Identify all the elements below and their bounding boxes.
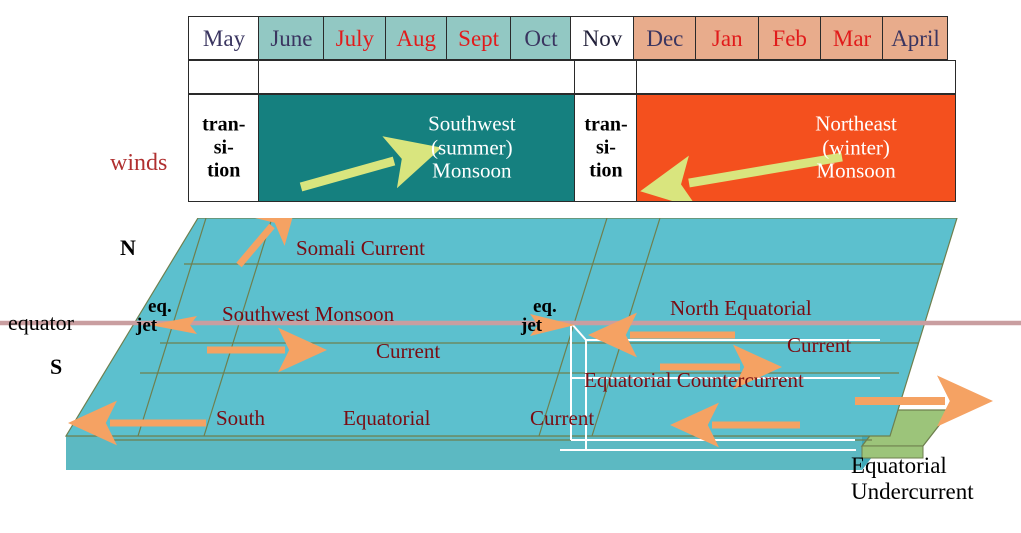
north-hemisphere-label: N (120, 235, 136, 261)
slab-front-face (66, 436, 862, 470)
north-equatorial-current-label: North Equatorial (670, 296, 812, 321)
month-cell-aug[interactable]: Aug (385, 16, 447, 60)
month-cell-feb[interactable]: Feb (758, 16, 822, 60)
winds-cell-transition-left[interactable]: tran-si-tion (188, 94, 260, 202)
southwest-monsoon-current-label: Southwest Monsoon (222, 302, 394, 327)
south-equatorial-label-south: South (216, 406, 265, 431)
winds-text-line: Southwest (369, 113, 575, 137)
winds-text-line: (winter) (757, 136, 955, 160)
month-cell-may[interactable]: May (188, 16, 260, 60)
south-hemisphere-label: S (50, 354, 62, 380)
winds-text-line: Northeast (757, 113, 955, 137)
month-cell-mar[interactable]: Mar (820, 16, 884, 60)
month-cell-oct[interactable]: Oct (510, 16, 572, 60)
winds-text-line: Monsoon (369, 160, 575, 184)
southwest-monsoon-current-label2: Current (376, 339, 440, 364)
eq-jet-right-line1: eq. (533, 297, 557, 316)
winds-cell-northeast-monsoon[interactable]: Northeast(winter)Monsoon (636, 94, 956, 202)
eq-jet-right-line2: jet (521, 316, 557, 335)
equator-label: equator (8, 310, 74, 336)
monsoon-calendar: MayJuneJulyAugSeptOctNovDecJanFebMarApri… (188, 16, 956, 202)
winds-cell-transition-right[interactable]: tran-si-tion (574, 94, 638, 202)
eq-jet-left-line1: eq. (148, 297, 172, 316)
winds-text-line: tion (575, 160, 637, 183)
winds-text-line: si- (575, 137, 637, 160)
month-cell-nov[interactable]: Nov (570, 16, 634, 60)
spacer-cell-2 (574, 60, 638, 94)
month-cell-april[interactable]: April (882, 16, 948, 60)
month-cell-sept[interactable]: Sept (446, 16, 512, 60)
month-cell-july[interactable]: July (323, 16, 387, 60)
diagram-root: MayJuneJulyAugSeptOctNovDecJanFebMarApri… (0, 0, 1021, 528)
month-cell-june[interactable]: June (258, 16, 324, 60)
winds-row: tran-si-tionSouthwest(summer)Monsoontran… (188, 94, 956, 202)
spacer-cell-3 (636, 60, 956, 94)
eq-jet-left-label: eq. jet (148, 297, 172, 335)
spacer-cell-1 (258, 60, 576, 94)
winds-text-line: Monsoon (757, 160, 955, 184)
winds-cell-southwest-monsoon[interactable]: Southwest(summer)Monsoon (258, 94, 576, 202)
south-equatorial-label-current: Current (530, 406, 594, 431)
winds-text-line: si- (189, 137, 259, 160)
ocean-current-diagram: N S equator eq. jet eq. jet Somali Curre… (0, 218, 1021, 528)
spacer-cell-0 (188, 60, 260, 94)
undercurrent-line1: Equatorial (851, 453, 974, 479)
month-cell-dec[interactable]: Dec (633, 16, 697, 60)
winds-text-line: tion (189, 160, 259, 183)
winds-cell-label-northeast-monsoon: Northeast(winter)Monsoon (757, 113, 955, 184)
winds-row-label: winds (110, 150, 167, 177)
north-equatorial-current-label2: Current (787, 333, 851, 358)
equatorial-undercurrent-label: Equatorial Undercurrent (851, 453, 974, 505)
somali-current-label: Somali Current (296, 236, 425, 261)
winds-cell-label-southwest-monsoon: Southwest(summer)Monsoon (369, 113, 575, 184)
undercurrent-line2: Undercurrent (851, 479, 974, 505)
ocean-surface (66, 218, 957, 436)
winds-text-line: tran- (575, 114, 637, 137)
winds-cell-label-transition-left: tran-si-tion (189, 114, 259, 183)
winds-text-line: tran- (189, 114, 259, 137)
month-header-row: MayJuneJulyAugSeptOctNovDecJanFebMarApri… (188, 16, 956, 60)
calendar-spacer-row (188, 60, 956, 94)
month-cell-jan[interactable]: Jan (695, 16, 759, 60)
south-equatorial-label-eq: Equatorial (343, 406, 430, 431)
winds-cell-label-transition-right: tran-si-tion (575, 114, 637, 183)
equatorial-countercurrent-label: Equatorial Countercurrent (584, 368, 804, 393)
winds-text-line: (summer) (369, 136, 575, 160)
eq-jet-right-label: eq. jet (533, 297, 557, 335)
eq-jet-left-line2: jet (136, 316, 172, 335)
